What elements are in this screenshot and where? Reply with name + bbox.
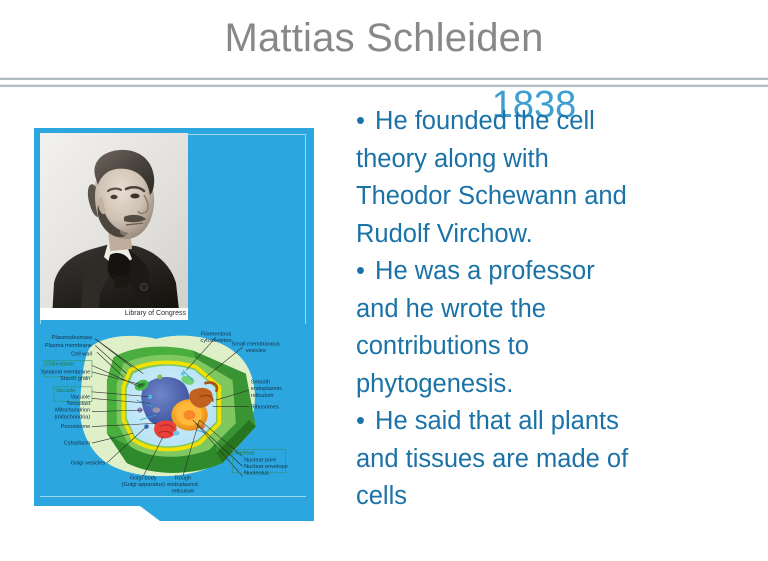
- body-line-text: He founded the cell: [375, 107, 595, 135]
- label-golgi-body-line2: (Golgi apparatus): [122, 482, 165, 488]
- body-text-block: • He founded the celltheory along withTh…: [356, 103, 712, 516]
- label-nuclear-pore: Nuclear pore: [244, 457, 276, 463]
- photo-caption: Library of Congress: [40, 308, 188, 320]
- label-vacuole-group: Vacuole: [56, 388, 76, 394]
- body-line: Theodor Schewann and: [356, 178, 712, 216]
- body-line: cells: [356, 478, 712, 516]
- label-starch-grain: Starch grain: [60, 376, 90, 382]
- label-golgi-vesicles: Golgi vesicles: [71, 461, 106, 467]
- label-nucleus-group: Nucleus: [234, 451, 254, 457]
- page-title: Mattias Schleiden: [0, 14, 768, 62]
- label-rough-er-line3: reticulum: [172, 489, 195, 495]
- label-golgi-body-line1: Golgi body: [130, 475, 157, 481]
- body-line: theory along with: [356, 141, 712, 179]
- label-smooth-er-line2: endoplasmic: [251, 386, 283, 392]
- body-line-text: phytogenesis.: [356, 370, 513, 398]
- label-rough-er-line2: endoplasmic: [167, 482, 199, 488]
- label-filamentous-line2: cytoskeleton: [200, 338, 231, 344]
- label-filamentous-line1: Filamentous: [201, 332, 232, 338]
- label-nuclear-envelope: Nuclear envelope: [244, 464, 288, 470]
- label-peroxisome: Peroxisome: [61, 424, 91, 430]
- body-line-text: theory along with: [356, 145, 549, 173]
- label-plasma-membrane: Plasma membrane: [45, 343, 92, 349]
- body-line: contributions to: [356, 328, 712, 366]
- body-line-text: He was a professor: [375, 257, 595, 285]
- portrait-photo: [40, 133, 188, 319]
- label-plasmodesmata: Plasmodesmata: [52, 335, 93, 341]
- body-line: • He was a professor: [356, 253, 712, 291]
- label-vesicles-line2: vesicles: [246, 348, 266, 354]
- body-line: • He founded the cell: [356, 103, 712, 141]
- label-smooth-er-line3: reticulum: [251, 393, 274, 399]
- body-line-text: contributions to: [356, 332, 529, 360]
- bullet-glyph: •: [356, 257, 368, 285]
- body-line-text: and he wrote the: [356, 295, 546, 323]
- label-mitochondrion-line2: (mitochondria): [54, 414, 90, 420]
- body-line: phytogenesis.: [356, 366, 712, 404]
- body-line: Rudolf Virchow.: [356, 216, 712, 254]
- title-divider-upper: [0, 77, 768, 80]
- body-line: and he wrote the: [356, 291, 712, 329]
- body-line-text: cells: [356, 482, 407, 510]
- bullet-glyph: •: [356, 107, 368, 135]
- label-thylakoid-membrane: Thylakoid membrane: [40, 370, 90, 376]
- label-chloroplast-group: Chloroplast: [46, 361, 75, 367]
- body-line-text: Theodor Schewann and: [356, 182, 627, 210]
- label-cytoplasm: Cytoplasm: [64, 441, 91, 447]
- body-line-text: and tissues are made of: [356, 445, 628, 473]
- label-cell-wall: Cell wall: [71, 351, 92, 357]
- cell-diagram: Plasmodesmata Plasma membrane Cell wall …: [40, 324, 306, 496]
- label-rough-er-line1: Rough: [175, 475, 192, 481]
- label-ribosomes: Ribosomes: [251, 404, 279, 410]
- label-nucleolus: Nucleolus: [244, 471, 269, 477]
- body-line: • He said that all plants: [356, 403, 712, 441]
- body-line: and tissues are made of: [356, 441, 712, 479]
- label-mitochondrion-line1: Mitochondrion: [55, 408, 90, 414]
- bullet-glyph: •: [356, 407, 368, 435]
- label-tonoplast: Tonoplast: [66, 401, 90, 407]
- body-line-text: Rudolf Virchow.: [356, 220, 533, 248]
- body-line-text: He said that all plants: [375, 407, 619, 435]
- label-vesicles-line1: Small membranous: [232, 342, 281, 348]
- label-smooth-er-line1: Smooth: [251, 380, 270, 386]
- label-vacuole: Vacuole: [70, 394, 90, 400]
